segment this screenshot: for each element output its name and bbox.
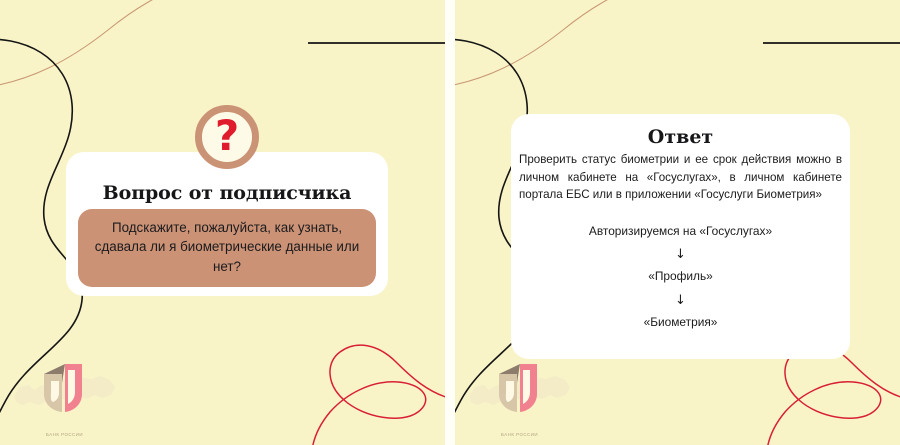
question-slide: ? Вопрос от подписчика Подскажите, пожал… xyxy=(0,0,445,445)
question-card-title: Вопрос от подписчика xyxy=(66,182,388,204)
bank-of-russia-logo: БАНК РОССИИ xyxy=(467,361,572,439)
red-squiggle xyxy=(312,345,445,445)
answer-card-title: Ответ xyxy=(515,126,846,148)
tan-curve xyxy=(0,0,190,88)
answer-slide: Ответ Проверить статус биометрии и ее ср… xyxy=(455,0,900,445)
question-card: ? Вопрос от подписчика Подскажите, пожал… xyxy=(66,152,388,296)
step-item-3: «Биометрия» xyxy=(515,315,846,330)
slide-pair: ? Вопрос от подписчика Подскажите, пожал… xyxy=(0,0,900,445)
question-mark-glyph: ? xyxy=(215,115,239,157)
step-item-1: Авторизируемся на «Госуслугах» xyxy=(515,224,846,239)
answer-card: Ответ Проверить статус биометрии и ее ср… xyxy=(511,114,850,359)
tan-curve xyxy=(455,0,645,88)
step-item-2: «Профиль» xyxy=(515,269,846,284)
question-text-bubble: Подскажите, пожалуйста, как узнать, сдав… xyxy=(78,209,376,287)
arrow-down-icon: ↓ xyxy=(515,248,846,261)
logo-caption: БАНК РОССИИ xyxy=(467,432,572,437)
arrow-down-icon: ↓ xyxy=(515,294,846,307)
red-squiggle xyxy=(767,345,900,445)
bank-of-russia-logo: БАНК РОССИИ xyxy=(12,361,117,439)
logo-caption: БАНК РОССИИ xyxy=(12,432,117,437)
answer-body-text: Проверить статус биометрии и ее срок дей… xyxy=(515,151,846,204)
question-mark-icon: ? xyxy=(195,105,259,169)
logo-shield-icon xyxy=(42,363,84,413)
answer-steps: Авторизируемся на «Госуслугах» ↓ «Профил… xyxy=(515,224,846,330)
logo-shield-icon xyxy=(497,363,539,413)
panel-divider xyxy=(445,0,455,445)
